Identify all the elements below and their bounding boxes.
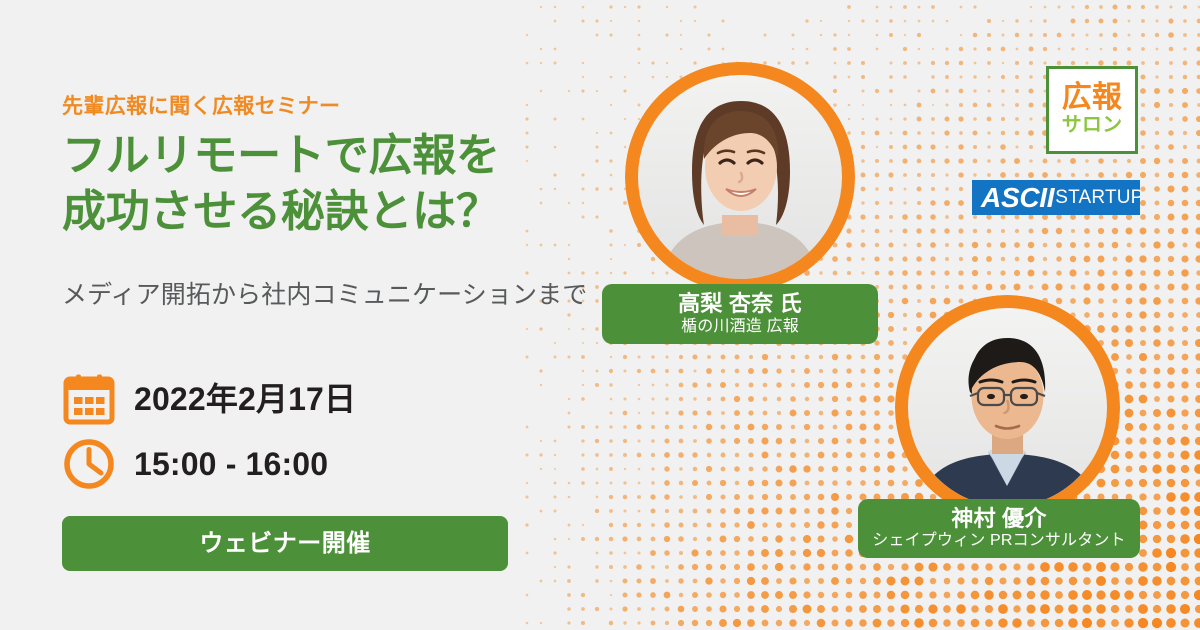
event-date: 2022年2月17日 xyxy=(134,383,356,415)
speaker-2-portrait xyxy=(895,295,1120,520)
speaker-1-nameplate: 高梨 杏奈 氏 楯の川酒造 広報 xyxy=(602,284,878,344)
speaker-1-portrait xyxy=(625,62,855,292)
speaker-2-ring xyxy=(895,295,1120,520)
webinar-cta-label: ウェビナー開催 xyxy=(199,532,370,556)
headline-line-1: フルリモートで広報を xyxy=(62,128,592,184)
speaker-1-ring xyxy=(625,62,855,292)
speaker-1-name: 高梨 杏奈 氏 xyxy=(678,292,802,317)
speaker-2-nameplate: 神村 優介 シェイプウィン PRコンサルタント xyxy=(858,499,1140,558)
ascii-logo-secondary: STARTUP xyxy=(1055,188,1140,207)
speaker-2-role: シェイプウィン PRコンサルタント xyxy=(872,531,1125,550)
date-row: 2022年2月17日 xyxy=(62,372,356,426)
ascii-logo-primary: ASCII xyxy=(981,184,1054,212)
clock-icon xyxy=(62,437,116,491)
event-time: 15:00 - 16:00 xyxy=(134,448,328,480)
ascii-startup-logo: ASCII STARTUP xyxy=(972,180,1140,215)
headline-line-2: 成功させる秘訣とは？ xyxy=(62,184,592,240)
page-title: フルリモートで広報を 成功させる秘訣とは？ xyxy=(62,128,592,241)
webinar-banner: 先輩広報に聞く広報セミナー フルリモートで広報を 成功させる秘訣とは？ メディア… xyxy=(0,0,1200,630)
hero-text-column: 先輩広報に聞く広報セミナー フルリモートで広報を 成功させる秘訣とは？ メディア… xyxy=(62,0,592,630)
pr-salon-logo-bottom: サロン xyxy=(1062,113,1123,138)
speaker-1-role: 楯の川酒造 広報 xyxy=(681,317,799,336)
time-row: 15:00 - 16:00 xyxy=(62,437,328,491)
pr-salon-logo: 広報 サロン xyxy=(1046,66,1138,154)
subtitle-text: メディア開拓から社内コミュニケーションまで xyxy=(62,275,587,311)
speaker-2-name: 神村 優介 xyxy=(951,507,1046,532)
eyebrow-text: 先輩広報に聞く広報セミナー xyxy=(62,90,340,120)
pr-salon-logo-top: 広報 xyxy=(1062,83,1123,113)
calendar-icon xyxy=(62,372,116,426)
webinar-cta-button[interactable]: ウェビナー開催 xyxy=(62,516,508,571)
